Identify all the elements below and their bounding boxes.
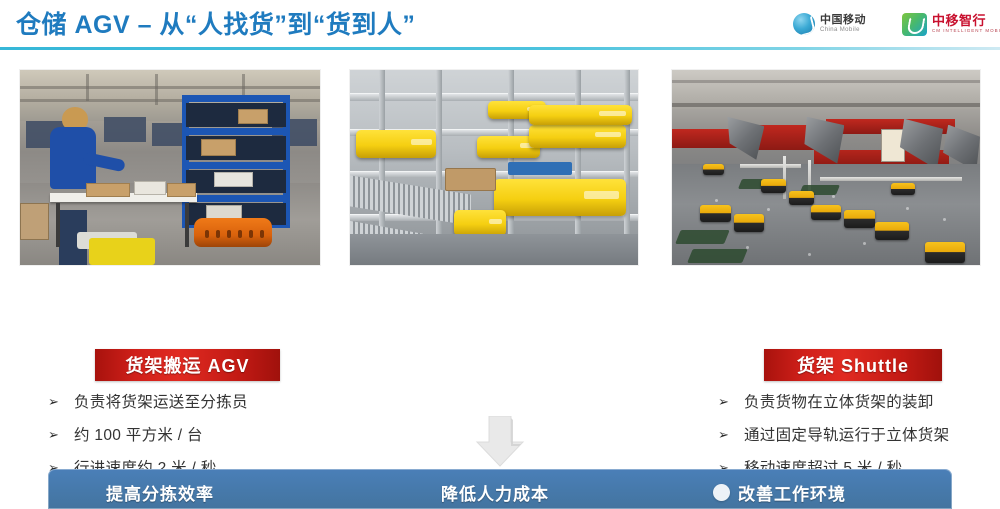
orange-agv-robot (194, 218, 272, 247)
benefit-label: 改善工作环境 (738, 480, 846, 505)
blue-shelf-rack (182, 95, 290, 228)
cm-mobility-wordmark: 中移智行 CM INTELLIGENT MOBILITY (932, 14, 1000, 34)
slide-root: 仓储 AGV – 从“人找货”到“货到人” 中国移动 China Mobile … (0, 0, 1000, 506)
china-mobile-name-en: China Mobile (820, 27, 866, 33)
benefit-item-work-environment: 改善工作环境 (713, 480, 846, 505)
page-title: 仓储 AGV – 从“人找货”到“货到人” (16, 5, 415, 41)
cm-mobility-name-zh: 中移智行 (932, 14, 1000, 27)
sorting-robot (844, 210, 875, 228)
banner-label: 货架搬运 AGV (125, 352, 249, 378)
sorting-robot (703, 164, 725, 176)
shuttle-robot (356, 130, 437, 157)
slide-header: 仓储 AGV – 从“人找货”到“货到人” 中国移动 China Mobile … (0, 0, 1000, 50)
photo-rack-shuttle (350, 70, 638, 265)
logo-cm-intelligent-mobility: 中移智行 CM INTELLIGENT MOBILITY (902, 10, 1000, 38)
bullet-arrow-icon: ➢ (48, 425, 74, 445)
column-parcel-sorting-agv: 包裹分拣 AGV ➢ 负责将货物运送至指定投递窗口及投递 ➢ 1000 平米最多… (672, 70, 980, 265)
benefit-label: 提高分拣效率 (106, 480, 214, 505)
banner-shelf-transport-agv: 货架搬运 AGV (95, 349, 280, 381)
sorting-robot (761, 179, 786, 193)
shuttle-robot (494, 179, 626, 216)
list-item: ➢ 负责货物在立体货架的装卸 (718, 392, 993, 414)
column-shelf-transport-agv: 货架搬运 AGV ➢ 负责将货架运送至分拣员 ➢ 约 100 平方米 / 台 ➢… (20, 70, 320, 265)
bullet-arrow-icon: ➢ (718, 392, 744, 412)
list-item: ➢ 负责将货架运送至分拣员 (48, 392, 338, 414)
down-arrow-icon (470, 416, 530, 468)
china-mobile-name-zh: 中国移动 (820, 15, 866, 26)
list-item: ➢ 通过固定导轨运行于立体货架 (718, 425, 993, 447)
bullet-arrow-icon: ➢ (48, 392, 74, 412)
shuttle-robot (454, 210, 506, 235)
shuttle-robot (529, 105, 633, 125)
sorting-robot (700, 205, 731, 223)
china-mobile-wordmark: 中国移动 China Mobile (820, 15, 866, 33)
list-item-label: 通过固定导轨运行于立体货架 (744, 425, 993, 447)
banner-rack-shuttle: 货架 Shuttle (764, 349, 942, 381)
sorting-robot (789, 191, 814, 205)
sorting-robot (875, 222, 909, 240)
photo-parcel-sorting-agv (672, 70, 980, 265)
sorting-robot (734, 214, 765, 232)
cm-mobility-name-en: CM INTELLIGENT MOBILITY (932, 29, 1000, 34)
sorting-robot (925, 242, 965, 263)
bullet-arrow-icon: ➢ (718, 425, 744, 445)
sorting-robot (811, 205, 842, 221)
cm-mobility-mark-icon (902, 13, 927, 36)
benefit-bullet-icon (713, 484, 730, 501)
benefit-item-efficiency: 提高分拣效率 (98, 480, 214, 505)
shuttle-robot (529, 125, 627, 148)
list-item-label: 约 100 平方米 / 台 (74, 425, 338, 447)
benefit-label: 降低人力成本 (441, 480, 549, 505)
logo-china-mobile: 中国移动 China Mobile (793, 10, 866, 38)
benefits-bar: 提高分拣效率 降低人力成本 改善工作环境 (48, 469, 952, 509)
sorting-robot (891, 183, 916, 195)
column-rack-shuttle: 货架 Shuttle ➢ 负责货物在立体货架的装卸 ➢ 通过固定导轨运行于立体货… (350, 70, 638, 265)
china-mobile-mark-icon (793, 13, 815, 35)
list-item: ➢ 约 100 平方米 / 台 (48, 425, 338, 447)
photo-shelf-transport-agv (20, 70, 320, 265)
list-item-label: 负责将货架运送至分拣员 (74, 392, 338, 414)
list-item-label: 负责货物在立体货架的装卸 (744, 392, 993, 414)
banner-label: 货架 Shuttle (797, 352, 909, 378)
benefit-item-labor-cost: 降低人力成本 (433, 480, 549, 505)
header-divider (0, 47, 1000, 50)
